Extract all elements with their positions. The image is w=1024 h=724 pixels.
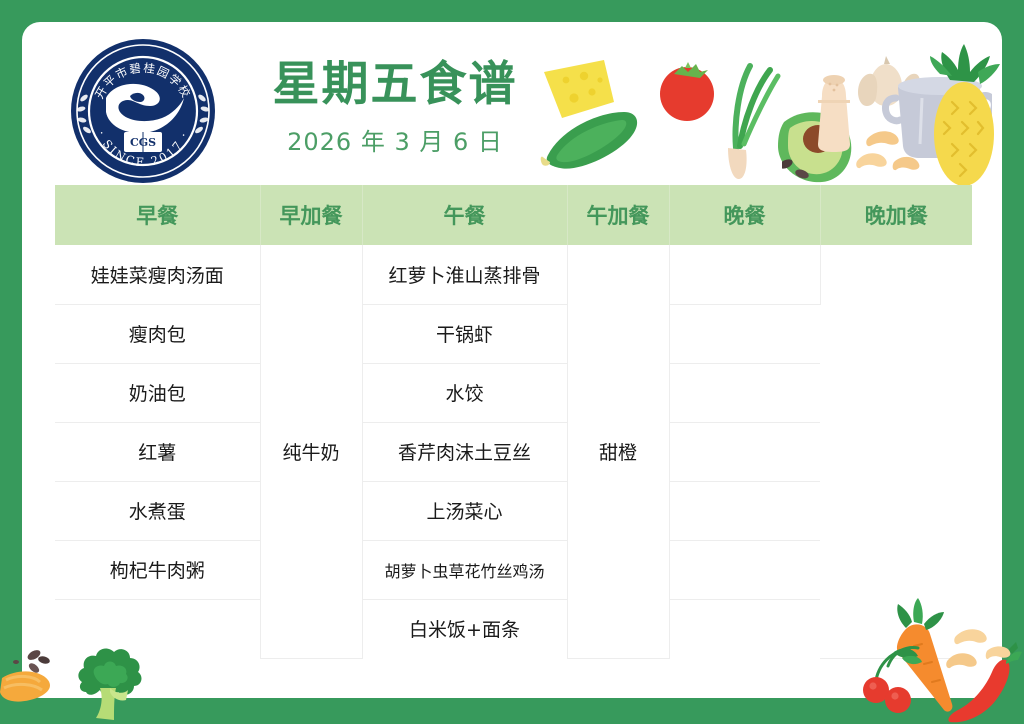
column-header-breakfast-snack: 早加餐 [260,185,362,245]
green-onion-icon [728,66,778,179]
menu-table: 早餐 早加餐 午餐 午加餐 晚餐 晚加餐 娃娃菜瘦肉汤面 纯牛奶 红萝卜淮山蒸排… [55,185,972,659]
cell-breakfast-snack-merged: 纯牛奶 [260,245,362,658]
cell-breakfast-3: 奶油包 [55,363,260,422]
cell-lunch-1: 红萝卜淮山蒸排骨 [362,245,567,304]
food-illustration-strip-right [782,40,1002,190]
column-header-dinner: 晚餐 [669,185,820,245]
table-row: 娃娃菜瘦肉汤面 纯牛奶 红萝卜淮山蒸排骨 甜橙 [55,245,972,304]
orange-wedge-icon [0,671,50,701]
cell-lunch-5: 上汤菜心 [362,481,567,540]
zucchini-icon [541,112,637,169]
black-beans-icon [782,157,810,180]
svg-text:CGS: CGS [130,136,156,149]
tomato-icon [660,62,714,121]
cell-breakfast-1: 娃娃菜瘦肉汤面 [55,245,260,304]
column-header-dinner-snack: 晚加餐 [820,185,972,245]
cell-breakfast-2: 瘦肉包 [55,304,260,363]
cell-breakfast-6: 枸杞牛肉粥 [55,540,260,599]
salt-shaker-icon [818,75,850,152]
cell-dinner-5 [669,481,820,540]
cheese-wedge-icon [544,60,614,118]
cell-dinner-2 [669,304,820,363]
black-beans-icon [13,648,51,675]
title-block: 星期五食谱 2026 年 3 月 6 日 [250,58,540,157]
broccoli-icon [78,649,141,720]
school-seal-logo: 开平市碧桂园学校 · SINCE 2017 · [68,36,218,186]
cell-breakfast-5: 水煮蛋 [55,481,260,540]
pineapple-icon [930,44,1000,186]
cell-dinner-7 [669,599,820,658]
cell-lunch-6: 胡萝卜虫草花竹丝鸡汤 [362,540,567,599]
corner-decoration-bottom-right [840,590,1024,724]
school-seal-icon: 开平市碧桂园学校 · SINCE 2017 · [68,36,218,186]
page-title: 星期五食谱 [250,58,540,112]
column-header-breakfast: 早餐 [55,185,260,245]
menu-poster: 开平市碧桂园学校 · SINCE 2017 · [0,0,1024,724]
cell-breakfast-4: 红薯 [55,422,260,481]
cell-lunch-7: 白米饭+面条 [362,599,567,658]
column-header-lunch: 午餐 [362,185,567,245]
cashew-nuts-icon [856,131,919,170]
cell-dinner-3 [669,363,820,422]
column-header-lunch-snack: 午加餐 [567,185,669,245]
cell-lunch-snack-merged: 甜橙 [567,245,669,658]
table-header-row: 早餐 早加餐 午餐 午加餐 晚餐 晚加餐 [55,185,972,245]
cell-dinner-6 [669,540,820,599]
cell-lunch-3: 水饺 [362,363,567,422]
cell-dinner-4 [669,422,820,481]
cell-lunch-4: 香芹肉沫土豆丝 [362,422,567,481]
corner-decoration-bottom-left [0,600,230,724]
menu-date: 2026 年 3 月 6 日 [250,122,540,157]
cell-lunch-2: 干锅虾 [362,304,567,363]
cell-dinner-1 [669,245,820,304]
poster-header: 开平市碧桂园学校 · SINCE 2017 · [22,22,1002,182]
cherries-icon [863,648,922,713]
